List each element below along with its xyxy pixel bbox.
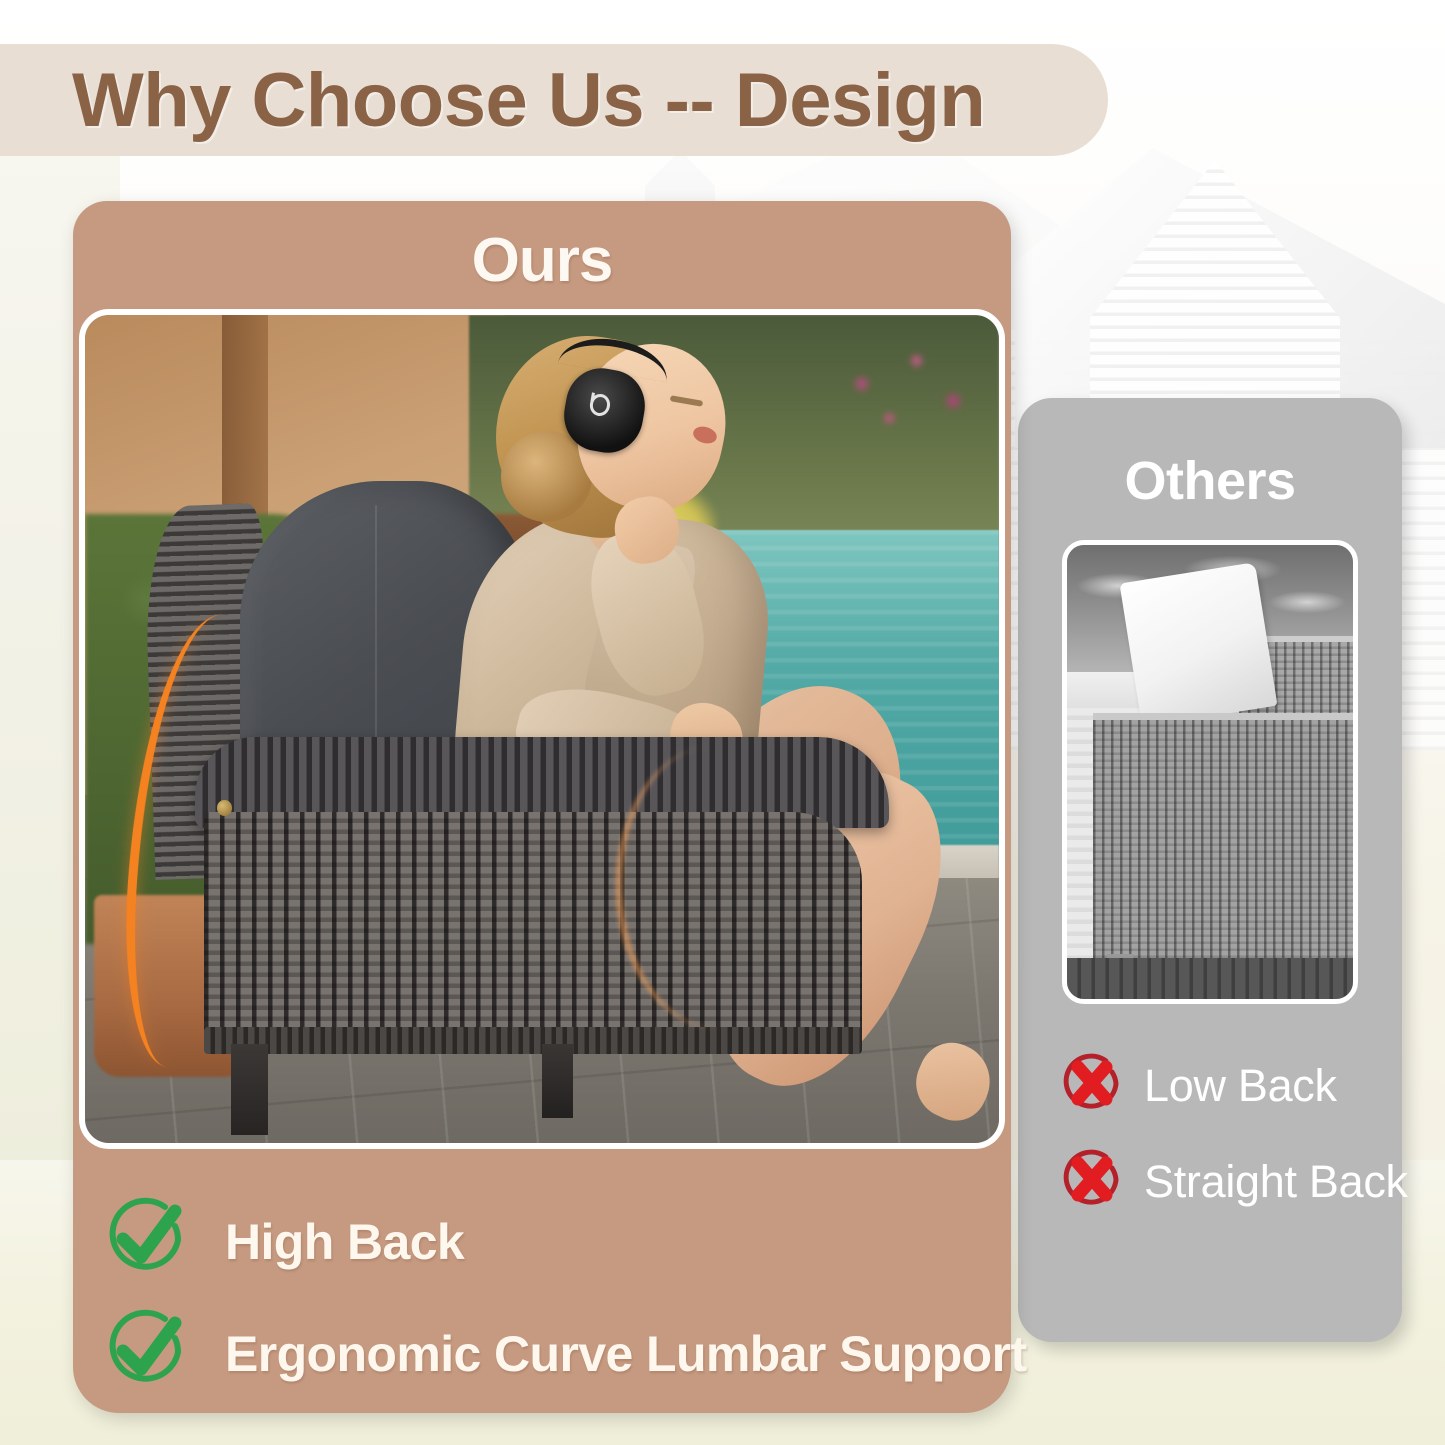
others-drawback-label: Low Back — [1144, 1060, 1337, 1112]
ours-feature-label: High Back — [225, 1213, 464, 1271]
ours-photo — [79, 309, 1005, 1149]
others-title: Others — [1018, 450, 1402, 512]
photo-flowers — [816, 332, 999, 448]
ours-feature-item: High Back — [99, 1186, 1029, 1298]
title-banner: Why Choose Us -- Design — [0, 44, 1108, 156]
ours-feature-list: High Back Ergonomic Curve Lumbar Support — [99, 1186, 1029, 1410]
check-circle-icon — [99, 1194, 191, 1291]
others-photo — [1062, 540, 1358, 1004]
ours-title: Ours — [73, 225, 1011, 296]
ours-panel: Ours — [73, 201, 1011, 1413]
others-drawback-item: Straight Back — [1054, 1134, 1445, 1230]
ours-feature-label: Ergonomic Curve Lumbar Support — [225, 1325, 1027, 1383]
photo-chair-leg-right — [542, 1044, 573, 1119]
photo-chair-base-rim — [204, 1027, 862, 1053]
cross-circle-icon — [1054, 1143, 1128, 1222]
ours-feature-item: Ergonomic Curve Lumbar Support — [99, 1298, 1029, 1410]
others-panel: Others Low Back — [1018, 398, 1402, 1342]
others-drawback-item: Low Back — [1054, 1038, 1445, 1134]
others-photo-deck — [1067, 958, 1353, 999]
others-photo-pillow — [1119, 562, 1277, 727]
others-drawback-label: Straight Back — [1144, 1156, 1408, 1208]
check-circle-icon — [99, 1306, 191, 1403]
page-title: Why Choose Us -- Design — [72, 57, 985, 144]
comparison-infographic: Why Choose Us -- Design Others — [0, 0, 1445, 1445]
cross-circle-icon — [1054, 1047, 1128, 1126]
others-drawback-list: Low Back Straight Back — [1054, 1038, 1445, 1230]
others-photo-sofa — [1093, 713, 1353, 976]
